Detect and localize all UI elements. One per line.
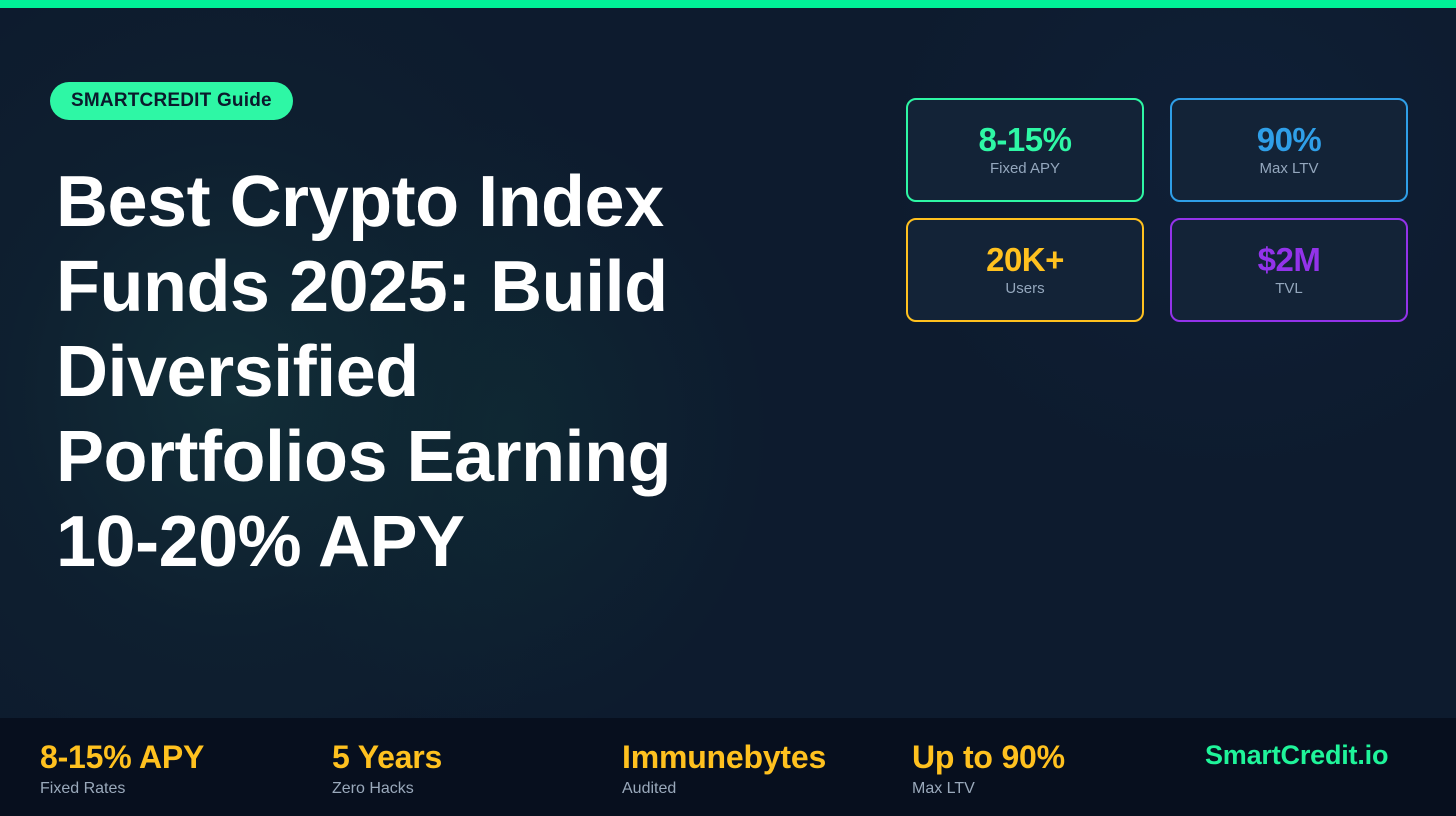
- footer-item-value: 5 Years: [332, 736, 442, 778]
- footer-item-label: Audited: [622, 778, 826, 800]
- stat-card-grid: 8-15% Fixed APY 90% Max LTV 20K+ Users $…: [906, 98, 1408, 322]
- guide-badge-label: SMARTCREDIT Guide: [71, 90, 272, 112]
- footer-item-max-ltv: Up to 90% Max LTV: [912, 736, 1065, 800]
- stat-value: $2M: [1258, 243, 1321, 278]
- stat-label: TVL: [1275, 280, 1303, 297]
- stat-value: 20K+: [986, 243, 1064, 278]
- stat-label: Users: [1005, 280, 1044, 297]
- footer-item-value: Up to 90%: [912, 736, 1065, 778]
- stat-value: 8-15%: [979, 123, 1072, 158]
- footer-item-audited: Immunebytes Audited: [622, 736, 826, 800]
- guide-badge: SMARTCREDIT Guide: [50, 82, 293, 120]
- stat-value: 90%: [1257, 123, 1322, 158]
- stat-label: Max LTV: [1260, 160, 1319, 177]
- top-accent-bar: [0, 0, 1456, 8]
- stat-card-tvl: $2M TVL: [1170, 218, 1408, 322]
- page-title: Best Crypto Index Funds 2025: Build Dive…: [56, 160, 756, 585]
- stat-card-users: 20K+ Users: [906, 218, 1144, 322]
- footer-item-label: Zero Hacks: [332, 778, 442, 800]
- footer-item-label: Fixed Rates: [40, 778, 204, 800]
- footer-item-fixed-rates: 8-15% APY Fixed Rates: [40, 736, 204, 800]
- footer-item-zero-hacks: 5 Years Zero Hacks: [332, 736, 442, 800]
- hero-banner: SMARTCREDIT Guide Best Crypto Index Fund…: [0, 0, 1456, 816]
- stat-card-max-ltv: 90% Max LTV: [1170, 98, 1408, 202]
- stat-card-fixed-apy: 8-15% Fixed APY: [906, 98, 1144, 202]
- stat-label: Fixed APY: [990, 160, 1060, 177]
- footer-item-value: Immunebytes: [622, 736, 826, 778]
- brand-wordmark: SmartCredit.io: [1205, 740, 1388, 771]
- footer-item-label: Max LTV: [912, 778, 1065, 800]
- footer-item-value: 8-15% APY: [40, 736, 204, 778]
